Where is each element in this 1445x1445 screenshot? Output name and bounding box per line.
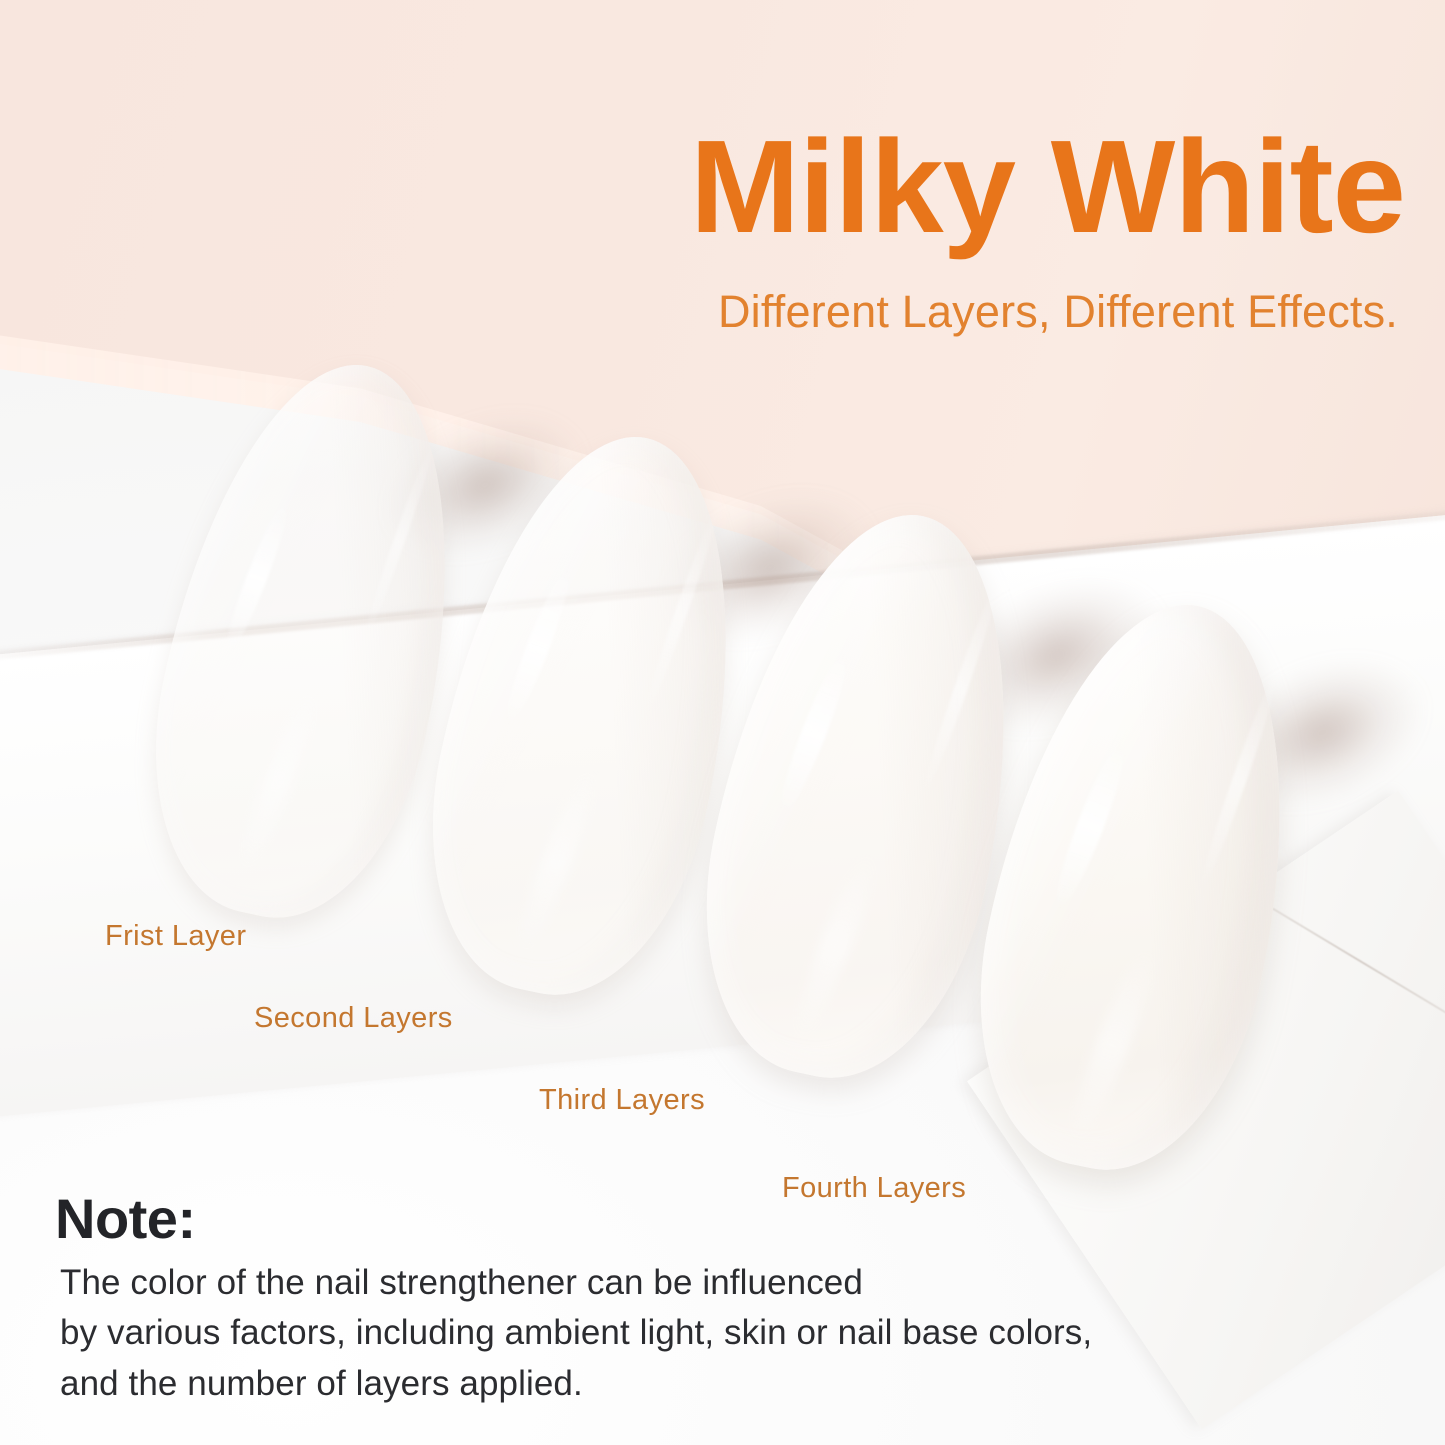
nail-glint-4c: [1196, 672, 1282, 889]
nail-glint-3c: [919, 584, 1003, 796]
nail-glint-4a: [1047, 740, 1134, 913]
page-title: Milky White: [0, 120, 1405, 255]
layer-label-fourth: Fourth Layers: [782, 1172, 966, 1205]
nail-glint-2b: [509, 765, 605, 957]
nail-glint-1b: [232, 688, 324, 875]
nail-glint-2c: [641, 508, 722, 715]
nail-glint-3a: [772, 650, 855, 817]
product-infographic: Milky White Different Layers, Different …: [0, 0, 1445, 1445]
note-heading: Note:: [55, 1186, 196, 1251]
layer-label-third: Third Layers: [539, 1084, 705, 1117]
nail-glint-1a: [219, 500, 295, 657]
layer-label-second: Second Layers: [254, 1002, 453, 1035]
nail-glint-3b: [785, 849, 885, 1046]
layer-label-first: Frist Layer: [105, 920, 246, 953]
nail-glint-4b: [1061, 944, 1164, 1147]
note-body-text: The color of the nail strengthener can b…: [60, 1258, 1092, 1409]
nail-glint-2a: [498, 567, 578, 729]
nail-glint-1c: [360, 440, 439, 642]
page-subtitle: Different Layers, Different Effects.: [0, 286, 1398, 338]
